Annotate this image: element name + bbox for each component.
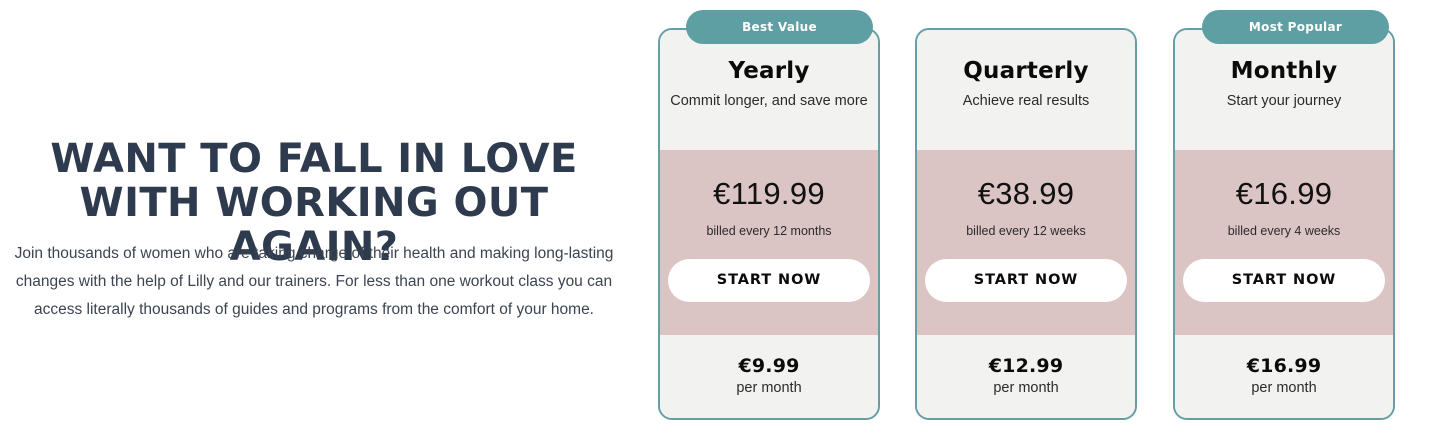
badge-best-value: Best Value (686, 10, 873, 44)
plan-title: Monthly (1175, 58, 1393, 84)
start-now-button[interactable]: START NOW (925, 259, 1127, 302)
plan-monthly-period: per month (917, 380, 1135, 396)
plan-price: €16.99 (1175, 176, 1393, 212)
pricing-card-yearly[interactable]: Yearly Commit longer, and save more €119… (658, 28, 880, 420)
plan-monthly-period: per month (1175, 380, 1393, 396)
card-price-block: €119.99 billed every 12 months START NOW (660, 150, 878, 335)
plan-title: Yearly (660, 58, 878, 84)
plan-price: €119.99 (660, 176, 878, 212)
plan-billing-cycle: billed every 4 weeks (1175, 224, 1393, 238)
card-footer: €9.99 per month (660, 335, 878, 418)
card-footer: €12.99 per month (917, 335, 1135, 418)
plan-billing-cycle: billed every 12 weeks (917, 224, 1135, 238)
card-price-block: €16.99 billed every 4 weeks START NOW (1175, 150, 1393, 335)
pricing-card-monthly[interactable]: Monthly Start your journey €16.99 billed… (1173, 28, 1395, 420)
plan-title: Quarterly (917, 58, 1135, 84)
promo-section: WANT TO FALL IN LOVE WITH WORKING OUT AG… (0, 0, 628, 446)
plan-subtitle: Start your journey (1175, 91, 1393, 111)
plan-monthly-period: per month (660, 380, 878, 396)
plan-subtitle: Achieve real results (917, 91, 1135, 111)
card-header: Monthly Start your journey (1175, 30, 1393, 150)
plan-billing-cycle: billed every 12 months (660, 224, 878, 238)
start-now-button[interactable]: START NOW (668, 259, 870, 302)
badge-most-popular: Most Popular (1202, 10, 1389, 44)
pricing-card-quarterly[interactable]: Quarterly Achieve real results €38.99 bi… (915, 28, 1137, 420)
plan-monthly-price: €16.99 (1175, 355, 1393, 377)
plan-monthly-price: €12.99 (917, 355, 1135, 377)
plan-monthly-price: €9.99 (660, 355, 878, 377)
card-price-block: €38.99 billed every 12 weeks START NOW (917, 150, 1135, 335)
card-header: Quarterly Achieve real results (917, 30, 1135, 150)
plan-price: €38.99 (917, 176, 1135, 212)
start-now-button[interactable]: START NOW (1183, 259, 1385, 302)
plan-subtitle: Commit longer, and save more (660, 91, 878, 111)
promo-description: Join thousands of women who are taking c… (14, 240, 614, 324)
card-header: Yearly Commit longer, and save more (660, 30, 878, 150)
card-footer: €16.99 per month (1175, 335, 1393, 418)
